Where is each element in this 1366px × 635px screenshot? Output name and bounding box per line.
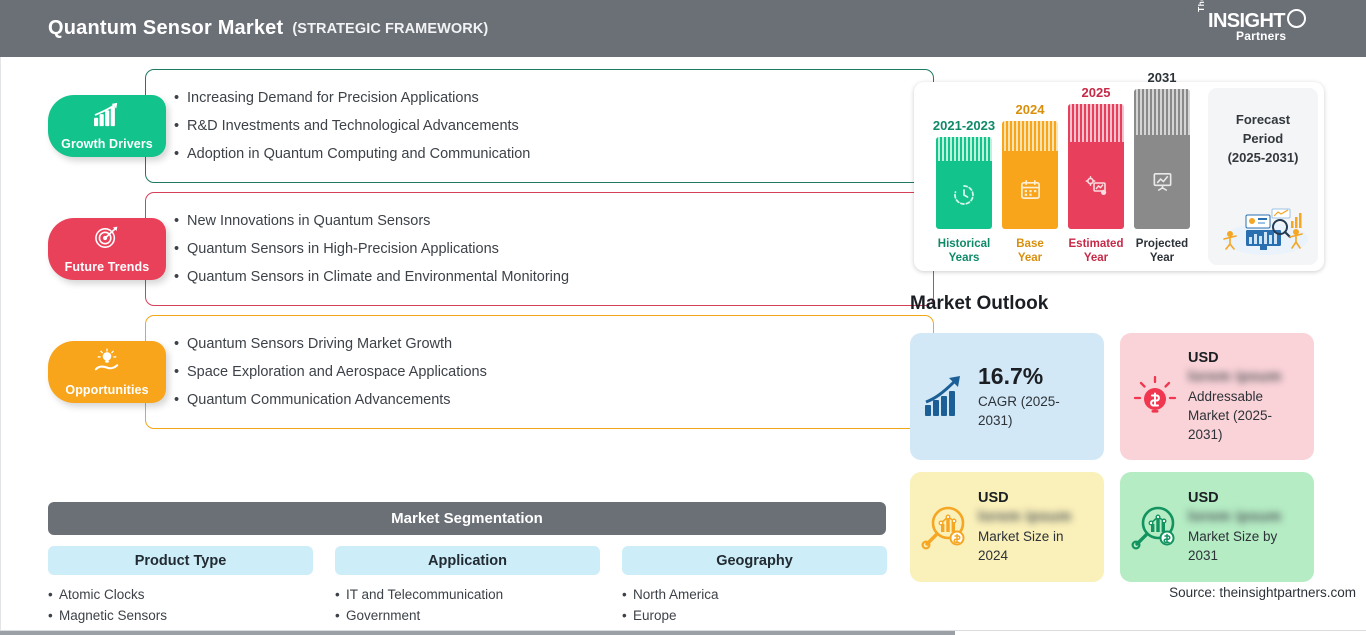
bar-caption: Projected Year [1128,238,1196,265]
list-item: Atomic Clocks [48,585,313,606]
pillar-box-growth-drivers: Increasing Demand for Precision Applicat… [145,69,934,183]
cagr-value: 16.7% [978,363,1094,390]
page-title: Quantum Sensor Market [48,17,283,40]
logo-ring-icon [1287,9,1306,28]
badge-opportunities[interactable]: Opportunities [48,341,166,403]
segmentation-list: IT and Telecommunication Government Heal… [335,585,600,635]
outlook-card-market-size-2031: USD lorem ipsum Market Size by 2031 [1120,472,1314,582]
presentation-chart-icon [1150,170,1174,194]
infographic-page: Quantum Sensor Market (STRATEGIC FRAMEWO… [0,0,1366,635]
badge-growth-drivers[interactable]: Growth Drivers [48,95,166,157]
bar-year-label: 2025 [1082,85,1111,100]
magnifier-chart-dollar-icon [920,502,970,552]
segmentation-header: Geography [622,546,887,575]
calendar-icon [1018,178,1042,202]
forecast-bars: 2021-2023 Hist [928,82,1203,271]
bar-year-label: 2031 [1148,70,1177,85]
insight-partners-logo: The INSIGHT Partners [1196,8,1308,50]
logo-the-text: The [1196,0,1206,12]
market-outlook-title: Market Outlook [910,293,1048,315]
list-item: Increasing Demand for Precision Applicat… [174,84,933,112]
badge-label: Opportunities [65,383,148,397]
list-item: Government [335,606,600,627]
currency-label: USD [978,490,1094,506]
left-column: Increasing Demand for Precision Applicat… [0,57,900,635]
outlook-card-cagr: 16.7% CAGR (2025-2031) [910,333,1104,460]
segmentation-header: Application [335,546,600,575]
list-item: North America [622,585,887,606]
segmentation-list: North America Europe Asia-Pacific [622,585,887,635]
pillar-box-future-trends: New Innovations in Quantum Sensors Quant… [145,192,934,306]
list-item: New Innovations in Quantum Sensors [174,207,933,235]
right-column: 2021-2023 Hist [900,57,1366,635]
bar-caption: Base Year [996,238,1064,265]
bullet-list-future-trends: New Innovations in Quantum Sensors Quant… [146,193,933,305]
badge-label: Growth Drivers [61,137,153,151]
page-subtitle: (STRATEGIC FRAMEWORK) [292,21,488,37]
magnifier-chart-dollar-icon [1130,502,1180,552]
pillar-box-opportunities: Quantum Sensors Driving Market Growth Sp… [145,315,934,429]
page-header: Quantum Sensor Market (STRATEGIC FRAMEWO… [0,0,1366,57]
bullet-list-opportunities: Quantum Sensors Driving Market Growth Sp… [146,316,933,428]
bar-caption: Historical Years [930,238,998,265]
horizontal-scrollbar[interactable] [0,630,1366,635]
card-caption: Addressable Market (2025-2031) [1188,387,1304,444]
currency-label: USD [1188,350,1304,366]
list-item: Quantum Sensors Driving Market Growth [174,330,933,358]
bar-year-label: 2021-2023 [933,118,995,133]
currency-label: USD [1188,490,1304,506]
forecast-gear-icon [1084,174,1108,198]
redacted-value: lorem ipsum [1188,368,1304,385]
redacted-value: lorem ipsum [978,508,1094,525]
segmentation-column-product-type: Product Type Atomic Clocks Magnetic Sens… [48,546,313,635]
lightbulb-dollar-icon [1130,372,1180,422]
list-item: Europe [622,606,887,627]
outlook-card-addressable-market: USD lorem ipsum Addressable Market (2025… [1120,333,1314,460]
outlook-card-body: USD lorem ipsum Market Size in 2024 [978,490,1094,565]
cagr-caption: CAGR (2025-2031) [978,392,1094,430]
analytics-illustration [1216,199,1310,257]
forecast-period-card: 2021-2023 Hist [914,82,1324,271]
bar-caption: Estimated Year [1062,238,1130,265]
list-item: Quantum Sensors in High-Precision Applic… [174,235,933,263]
bar-year-label: 2024 [1016,102,1045,117]
logo-partners-text: Partners [1236,29,1286,43]
clock-history-icon [952,183,976,207]
list-item: Quantum Sensors in Climate and Environme… [174,263,933,291]
list-item: Quantum Communication Advancements [174,386,933,414]
source-attribution: Source: theinsightpartners.com [1169,585,1356,600]
segmentation-header: Product Type [48,546,313,575]
scrollbar-thumb[interactable] [0,631,955,635]
list-item: Magnetic Sensors [48,606,313,627]
list-item: Adoption in Quantum Computing and Commun… [174,140,933,168]
badge-label: Future Trends [65,260,150,274]
card-caption: Market Size by 2031 [1188,527,1304,565]
lightbulb-hand-icon [92,348,122,374]
outlook-card-body: USD lorem ipsum Addressable Market (2025… [1188,350,1304,444]
outlook-card-body: USD lorem ipsum Market Size by 2031 [1188,490,1304,565]
segmentation-column-geography: Geography North America Europe Asia-Paci… [622,546,887,635]
list-item: Space Exploration and Aerospace Applicat… [174,358,933,386]
bullet-list-growth-drivers: Increasing Demand for Precision Applicat… [146,70,933,182]
target-dart-icon [92,225,122,251]
list-item: IT and Telecommunication [335,585,600,606]
outlook-card-body: 16.7% CAGR (2025-2031) [978,363,1094,430]
bar-chart-arrow-icon [920,372,970,422]
segmentation-list: Atomic Clocks Magnetic Sensors PAR Quant… [48,585,313,635]
list-item: R&D Investments and Technological Advanc… [174,112,933,140]
market-segmentation-title: Market Segmentation [48,502,886,535]
forecast-period-text: Forecast Period (2025-2031) [1208,110,1318,167]
segmentation-column-application: Application IT and Telecommunication Gov… [335,546,600,635]
forecast-period-panel: Forecast Period (2025-2031) [1208,88,1318,265]
badge-future-trends[interactable]: Future Trends [48,218,166,280]
outlook-card-market-size-2024: USD lorem ipsum Market Size in 2024 [910,472,1104,582]
growth-chart-icon [92,102,122,128]
card-caption: Market Size in 2024 [978,527,1094,565]
redacted-value: lorem ipsum [1188,508,1304,525]
